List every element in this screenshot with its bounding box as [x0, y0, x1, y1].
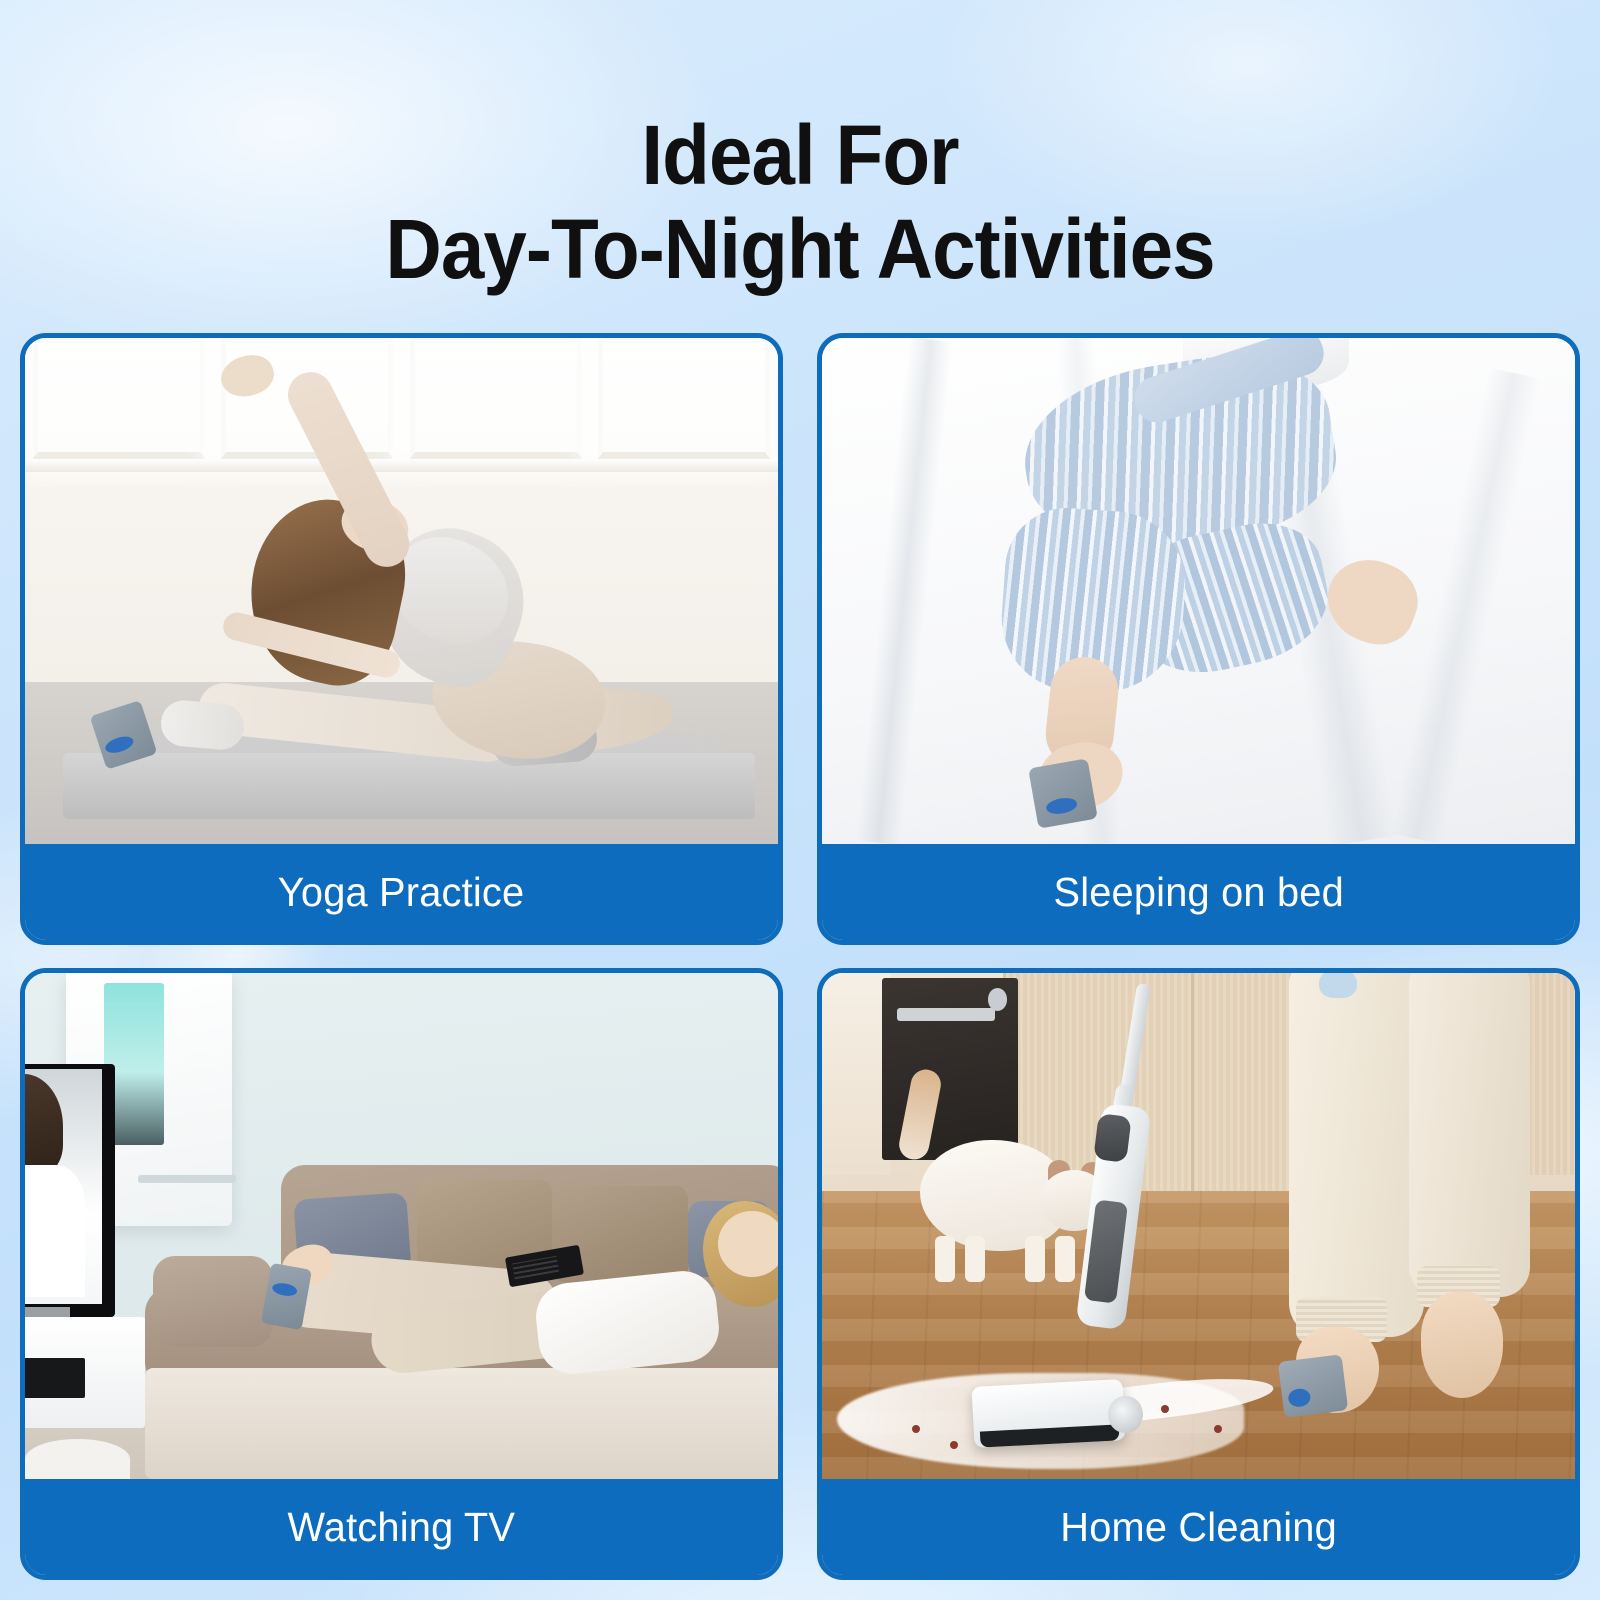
vacuum-clean-water-tank	[1093, 1113, 1131, 1162]
vacuum-wheel	[1108, 1396, 1143, 1434]
crumb	[950, 1441, 958, 1449]
caption-label: Watching TV	[288, 1504, 516, 1551]
caption-bar-home-cleaning: Home Cleaning	[822, 1479, 1575, 1575]
tv-viewer-torso	[533, 1267, 722, 1376]
yoga-mat	[63, 753, 756, 819]
tv-stand	[25, 1307, 70, 1317]
caption-label: Home Cleaning	[1060, 1504, 1337, 1551]
window-pane	[33, 338, 205, 459]
vacuum-floor-head	[971, 1379, 1125, 1448]
window-pane	[410, 338, 582, 459]
yoga-practice-photo	[25, 338, 778, 844]
bunion-corrector-device	[1278, 1354, 1348, 1417]
cabinet-handle	[138, 1175, 236, 1183]
cat-leg	[1055, 1236, 1075, 1282]
oven-knob	[988, 988, 1008, 1011]
cabinet-seam	[1191, 973, 1194, 1196]
cat-leg	[935, 1236, 955, 1282]
yoga-window-sill	[25, 459, 778, 471]
tv-person-shirt	[25, 1165, 85, 1297]
cleaner-left-pant-leg	[1289, 973, 1425, 1337]
media-box	[25, 1358, 85, 1398]
caption-label: Sleeping on bed	[1053, 869, 1343, 916]
page-title: Ideal For Day-To-Night Activities	[56, 108, 1544, 296]
cleaner-right-foot	[1421, 1292, 1504, 1398]
activity-card-watching-tv[interactable]: Watching TV	[20, 968, 783, 1580]
watching-tv-photo	[25, 973, 778, 1479]
sofa-base	[145, 1368, 778, 1479]
kitchen-left-wall	[822, 973, 890, 1175]
caption-bar-watching-tv: Watching TV	[25, 1479, 778, 1575]
sleeping-on-bed-photo	[822, 338, 1575, 844]
tv-viewer-head	[718, 1211, 778, 1277]
pant-graphic	[1319, 973, 1357, 998]
activity-card-home-cleaning[interactable]: Home Cleaning	[817, 968, 1580, 1580]
floor-rug	[25, 1439, 130, 1479]
bedsheet-fold	[856, 338, 954, 844]
caption-bar-yoga-practice: Yoga Practice	[25, 844, 778, 940]
activity-card-yoga-practice[interactable]: Yoga Practice	[20, 333, 783, 945]
activity-card-sleeping-on-bed[interactable]: Sleeping on bed	[817, 333, 1580, 945]
cat-leg	[965, 1236, 985, 1282]
activities-grid: Yoga Practice Sleeping on bed	[20, 333, 1580, 1580]
window-pane	[598, 338, 770, 459]
cleaner-right-pant-leg	[1409, 973, 1529, 1297]
oven-handle	[897, 1008, 995, 1021]
home-cleaning-photo	[822, 973, 1575, 1479]
cat-leg	[1025, 1236, 1045, 1282]
yoga-window-row	[25, 338, 778, 459]
caption-label: Yoga Practice	[278, 869, 524, 916]
bunion-corrector-device	[1028, 758, 1098, 828]
sofa-armrest	[153, 1256, 273, 1347]
caption-bar-sleeping-on-bed: Sleeping on bed	[822, 844, 1575, 940]
